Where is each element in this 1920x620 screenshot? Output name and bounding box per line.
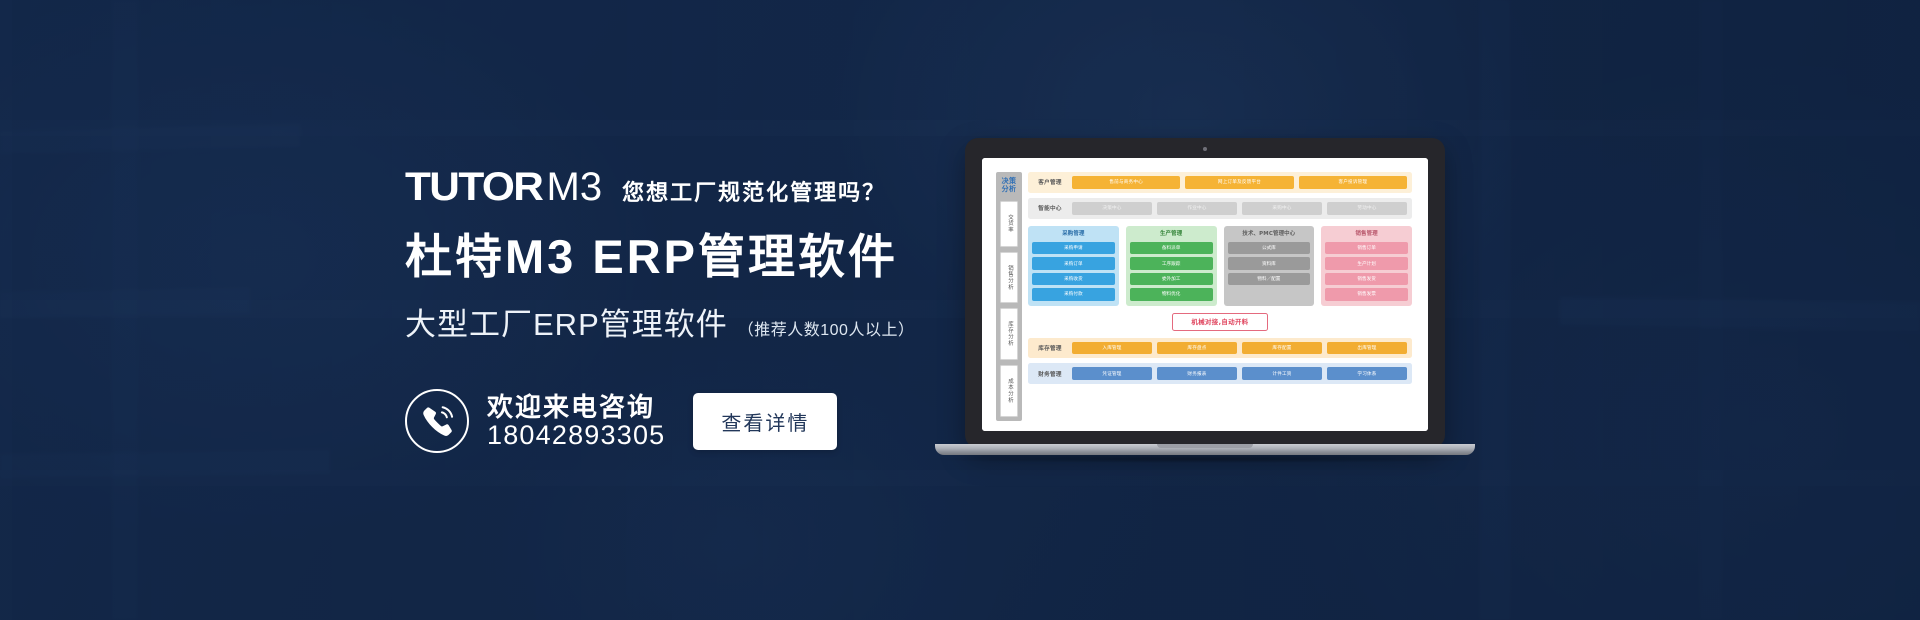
contact-text: 欢迎来电咨询 18042893305: [487, 393, 665, 450]
module-item: 物料优化: [1130, 288, 1213, 300]
module-item: 销售订单: [1325, 242, 1408, 254]
subtitle-note: （推荐人数100人以上）: [738, 316, 915, 340]
band-pill: 出库管理: [1327, 342, 1407, 355]
module-item: 备料派单: [1130, 242, 1213, 254]
module-tech-pmc: 技术、PMC管理中心 公式库 资料库 物料／配置: [1224, 226, 1315, 306]
page-title: 杜特M3 ERP管理软件: [405, 229, 1055, 284]
band-pill: 劳动中心: [1327, 202, 1407, 215]
band-title: 库存管理: [1033, 344, 1067, 352]
module-item: 采购申请: [1032, 242, 1115, 254]
logo-wordmark: TUTOR: [405, 167, 542, 207]
laptop-lid: 决策分析 交货率 销售分析 库存分析 成本分析 客户管理 售前与商务中心 网上订…: [965, 138, 1445, 448]
erp-architecture-diagram: 决策分析 交货率 销售分析 库存分析 成本分析 客户管理 售前与商务中心 网上订…: [982, 158, 1428, 431]
contact-label: 欢迎来电咨询: [487, 393, 665, 421]
module-item: 采购订单: [1032, 257, 1115, 269]
rail-item: 库存分析: [1000, 308, 1018, 360]
decision-analysis-rail: 决策分析 交货率 销售分析 库存分析 成本分析: [996, 172, 1022, 421]
subtitle-row: 大型工厂ERP管理软件 （推荐人数100人以上）: [405, 306, 1055, 343]
laptop-shadow: [925, 455, 1485, 463]
phone-ring-icon: [405, 389, 469, 453]
band-pill: 网上订单及反馈平台: [1185, 176, 1293, 189]
laptop-screen: 决策分析 交货率 销售分析 库存分析 成本分析 客户管理 售前与商务中心 网上订…: [982, 158, 1428, 431]
rail-item: 成本分析: [1000, 365, 1018, 417]
band-title: 智能中心: [1033, 204, 1067, 212]
diagram-band-finance: 财务管理 凭证管理 财务报表 计件工资 学习体系: [1028, 363, 1412, 384]
webcam-icon: [1203, 147, 1207, 151]
band-pill: 决策中心: [1072, 202, 1152, 215]
band-pill: 库存盘点: [1157, 342, 1237, 355]
module-item: 公式库: [1228, 242, 1311, 254]
contact-block[interactable]: 欢迎来电咨询 18042893305: [405, 389, 665, 453]
module-item: 委外加工: [1130, 273, 1213, 285]
band-title: 客户管理: [1033, 178, 1067, 186]
rail-item: 销售分析: [1000, 252, 1018, 304]
rail-header: 决策分析: [999, 176, 1019, 196]
module-item: 生产计划: [1325, 257, 1408, 269]
band-pill: 客户投诉管理: [1299, 176, 1407, 189]
logo-model: M3: [547, 167, 603, 207]
laptop-mockup: 决策分析 交货率 销售分析 库存分析 成本分析 客户管理 售前与商务中心 网上订…: [965, 138, 1505, 478]
module-sales: 销售管理 销售订单 生产计划 销售发货 销售发票: [1321, 226, 1412, 306]
band-pill: 计件工资: [1242, 367, 1322, 380]
diagram-module-row: 采购管理 采购申请 采购订单 采购收货 采购付款 生产管理 备料派单 工序跟踪 …: [1028, 224, 1412, 307]
diagram-callout: 机械对接,自动开料: [1172, 313, 1267, 331]
brand-tagline: 您想工厂规范化管理吗？: [622, 182, 886, 204]
module-title: 生产管理: [1130, 230, 1213, 239]
laptop-base: [935, 444, 1475, 455]
view-details-button[interactable]: 查看详情: [693, 393, 837, 450]
band-pill: 采购中心: [1242, 202, 1322, 215]
band-title: 财务管理: [1033, 370, 1067, 378]
band-pill: 学习体系: [1327, 367, 1407, 380]
subtitle: 大型工厂ERP管理软件: [405, 306, 728, 343]
module-title: 技术、PMC管理中心: [1228, 230, 1311, 239]
band-pill: 库存配置: [1242, 342, 1322, 355]
module-item: 采购付款: [1032, 288, 1115, 300]
module-item: 资料库: [1228, 257, 1311, 269]
hero-content: TUTOR M3 您想工厂规范化管理吗？ 杜特M3 ERP管理软件 大型工厂ER…: [405, 0, 1055, 620]
module-item: 采购收货: [1032, 273, 1115, 285]
brand-logo: TUTOR M3 您想工厂规范化管理吗？: [405, 167, 1055, 207]
rail-item: 交货率: [1000, 201, 1018, 246]
band-pill: 作业中心: [1157, 202, 1237, 215]
module-item: 销售发货: [1325, 273, 1408, 285]
module-item: 物料／配置: [1228, 273, 1311, 285]
module-production: 生产管理 备料派单 工序跟踪 委外加工 物料优化: [1126, 226, 1217, 306]
module-title: 采购管理: [1032, 230, 1115, 239]
diagram-columns: 客户管理 售前与商务中心 网上订单及反馈平台 客户投诉管理 智能中心 决策中心 …: [1028, 172, 1412, 421]
module-title: 销售管理: [1325, 230, 1408, 239]
diagram-band-customer: 客户管理 售前与商务中心 网上订单及反馈平台 客户投诉管理: [1028, 172, 1412, 193]
band-pill: 售前与商务中心: [1072, 176, 1180, 189]
module-item: 工序跟踪: [1130, 257, 1213, 269]
module-purchase: 采购管理 采购申请 采购订单 采购收货 采购付款: [1028, 226, 1119, 306]
contact-number: 18042893305: [487, 421, 665, 450]
diagram-band-smart: 智能中心 决策中心 作业中心 采购中心 劳动中心: [1028, 198, 1412, 219]
band-pill: 财务报表: [1157, 367, 1237, 380]
diagram-band-inventory: 库存管理 入库管理 库存盘点 库存配置 出库管理: [1028, 338, 1412, 359]
hero-banner: TUTOR M3 您想工厂规范化管理吗？ 杜特M3 ERP管理软件 大型工厂ER…: [0, 0, 1920, 620]
band-pill: 凭证管理: [1072, 367, 1152, 380]
band-pill: 入库管理: [1072, 342, 1152, 355]
module-item: 销售发票: [1325, 288, 1408, 300]
diagram-callout-row: 机械对接,自动开料: [1028, 312, 1412, 333]
